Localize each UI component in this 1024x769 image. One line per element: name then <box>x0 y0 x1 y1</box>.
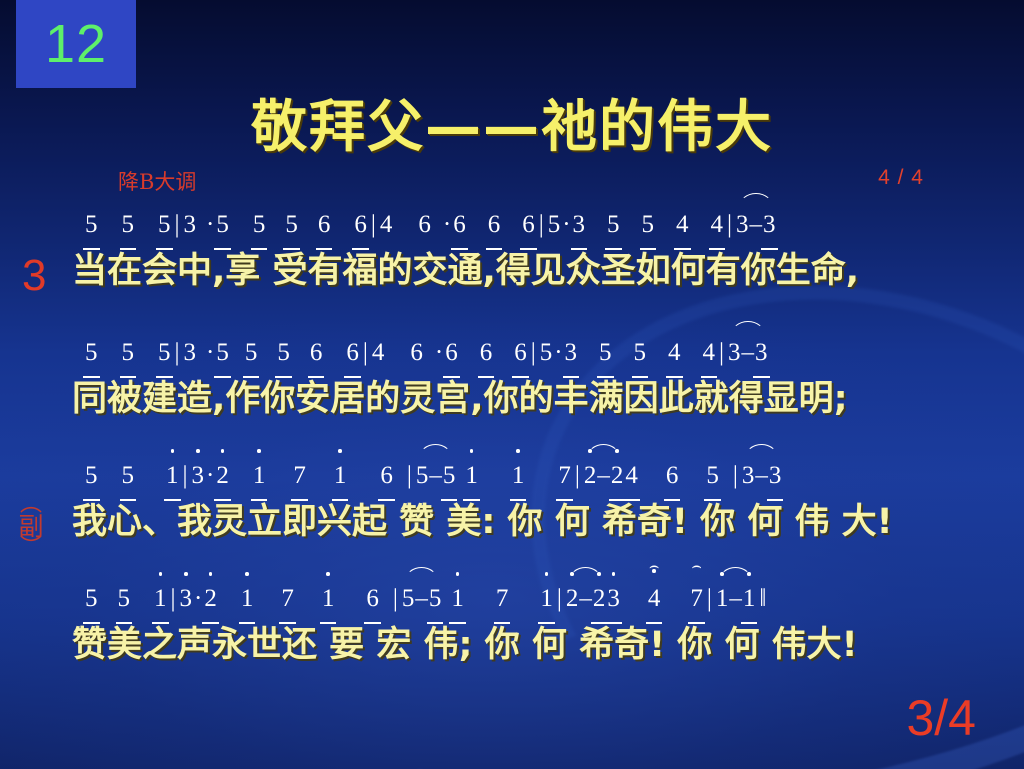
page-number-text: 12 <box>45 17 107 71</box>
lyrics-line: 我心、我灵立即兴起 赞 美: 你 何 希奇! 你 何 伟 大! <box>0 497 1024 547</box>
notation-line: 551|3·21716|5–5171|2–2347|1–1‖ <box>0 578 1024 620</box>
lyrics-line: 当在会中,享 受有福的交通,得见众圣如何有你生命, <box>0 246 1024 296</box>
chorus-marker: ︵ 副 ︶ <box>14 495 48 558</box>
lyrics-line: 同被建造,作你安居的灵宫,你的丰满因此就得显明; <box>0 374 1024 424</box>
chorus-marker-paren-bottom: ︶ <box>14 538 48 558</box>
stanza-block: 551|3·21716|5–5171|2–2347|1–1‖ 赞美之声永世还 要… <box>0 578 1024 670</box>
stanza-block: 555|3·55566|46·666|5·35544|3–3 同被建造,作你安居… <box>0 332 1024 424</box>
notation-line: 555|3·55566|46·666|5·35544|3–3 <box>0 204 1024 246</box>
stanza-block: ︵ 副 ︶ 551|3·21716|5–5117|2–2465|3–3 我心、我… <box>0 455 1024 547</box>
key-signature-label: 降B大调 <box>118 166 196 196</box>
notation-line: 555|3·55566|46·666|5·35544|3–3 <box>0 332 1024 374</box>
verse-number-marker: 3 <box>22 254 46 298</box>
footer-page-indicator: 3/4 <box>906 689 976 747</box>
notation-line: 551|3·21716|5–5117|2–2465|3–3 <box>0 455 1024 497</box>
time-signature-label: 4 / 4 <box>878 166 924 190</box>
page-title: 敬拜父——祂的伟大 <box>0 82 1024 163</box>
slide-canvas: 12 敬拜父——祂的伟大 降B大调 4 / 4 3 555|3·55566|46… <box>0 0 1024 769</box>
page-number-badge: 12 <box>16 0 136 88</box>
stanza-block: 3 555|3·55566|46·666|5·35544|3–3 当在会中,享 … <box>0 204 1024 296</box>
lyrics-line: 赞美之声永世还 要 宏 伟; 你 何 希奇! 你 何 伟大! <box>0 620 1024 670</box>
